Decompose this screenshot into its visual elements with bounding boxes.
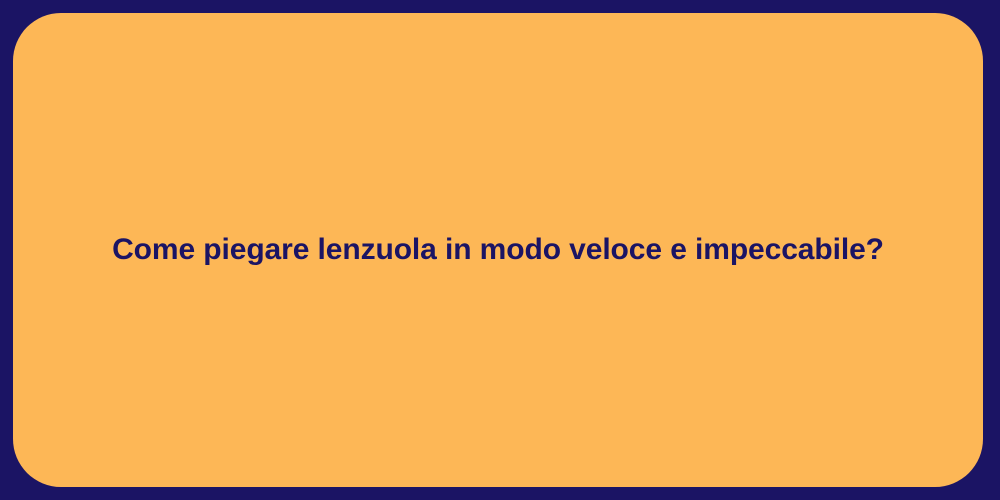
content-card: Come piegare lenzuola in modo veloce e i… bbox=[13, 13, 983, 487]
card-content-wrapper: Come piegare lenzuola in modo veloce e i… bbox=[13, 230, 983, 271]
page-title: Come piegare lenzuola in modo veloce e i… bbox=[112, 230, 884, 271]
page-frame: Come piegare lenzuola in modo veloce e i… bbox=[0, 0, 1000, 500]
